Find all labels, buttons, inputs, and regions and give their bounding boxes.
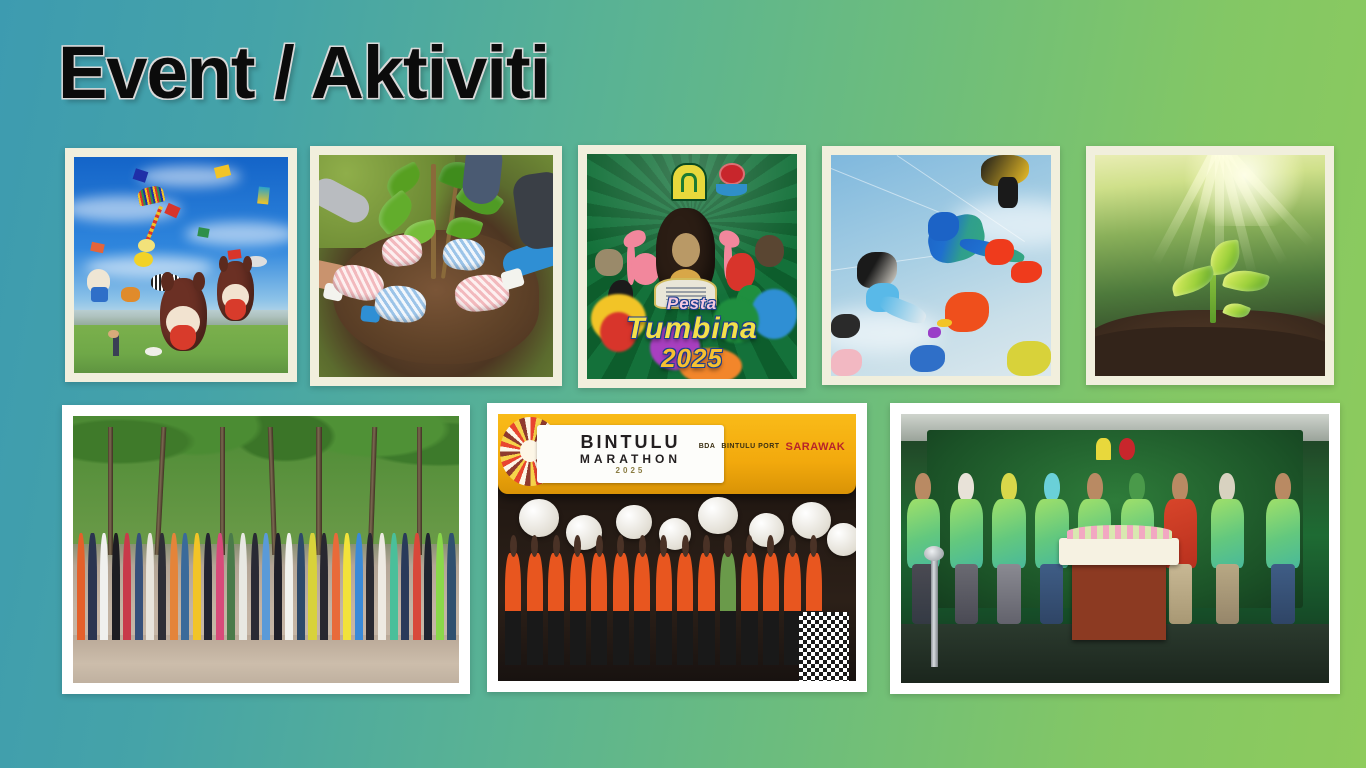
photo-bintulu-marathon-start: BINTULU MARATHON 2025 BDA BINTULU PORT S…: [498, 414, 856, 681]
marathon-subtitle: MARATHON: [580, 453, 681, 465]
marathon-sponsor-logos: BDA BINTULU PORT SARAWAK: [699, 441, 846, 453]
photo-seedling-in-soil: [1095, 155, 1325, 376]
photo-tree-planting-hands: [319, 155, 553, 377]
gallery-item-tree-planting-hands[interactable]: [310, 146, 562, 386]
marathon-title: BINTULU: [580, 433, 680, 451]
backdrop-bda-logo: [1096, 438, 1111, 460]
poster-line1: Pesta: [587, 294, 797, 314]
stanchion-post: [931, 559, 938, 667]
gallery-item-bintulu-marathon-start[interactable]: BINTULU MARATHON 2025 BDA BINTULU PORT S…: [487, 403, 867, 692]
poster-line2: Tumbina: [587, 312, 797, 346]
gallery-item-kite-festival-field[interactable]: [65, 148, 297, 382]
photo-pesta-tumbina-poster: Pesta Tumbina 2025: [587, 154, 797, 379]
sarawak-agency-logo: [715, 163, 749, 201]
gallery-item-pesta-tumbina-poster[interactable]: Pesta Tumbina 2025: [578, 145, 806, 388]
sponsor-bda-logo: BDA: [699, 443, 716, 450]
crowd-people: [73, 533, 459, 640]
backdrop-agency-logo: [1119, 438, 1134, 460]
marathon-signboard: BINTULU MARATHON 2025: [537, 425, 723, 484]
gallery-item-seedling-in-soil[interactable]: [1086, 146, 1334, 385]
page-title: Event / Aktiviti: [58, 36, 549, 110]
sponsor-bintulu-port-logo: BINTULU PORT: [721, 443, 779, 450]
photo-community-run-group-photo: [73, 416, 459, 683]
photo-cake-cutting-ceremony: [901, 414, 1329, 683]
gallery-item-animal-kites-sky[interactable]: [822, 146, 1060, 385]
checkered-flag: [799, 612, 849, 681]
gallery-item-community-run-group-photo[interactable]: [62, 405, 470, 694]
marathon-year: 2025: [616, 467, 646, 475]
bintulu-development-authority-logo: [671, 163, 707, 201]
ceremonial-cake: [1059, 538, 1179, 565]
sponsor-sarawak-logo: SARAWAK: [786, 441, 846, 453]
poster-year: 2025: [587, 343, 797, 374]
gallery-item-cake-cutting-ceremony[interactable]: [890, 403, 1340, 694]
photo-animal-kites-sky: [831, 155, 1051, 376]
photo-kite-festival-field: [74, 157, 288, 373]
